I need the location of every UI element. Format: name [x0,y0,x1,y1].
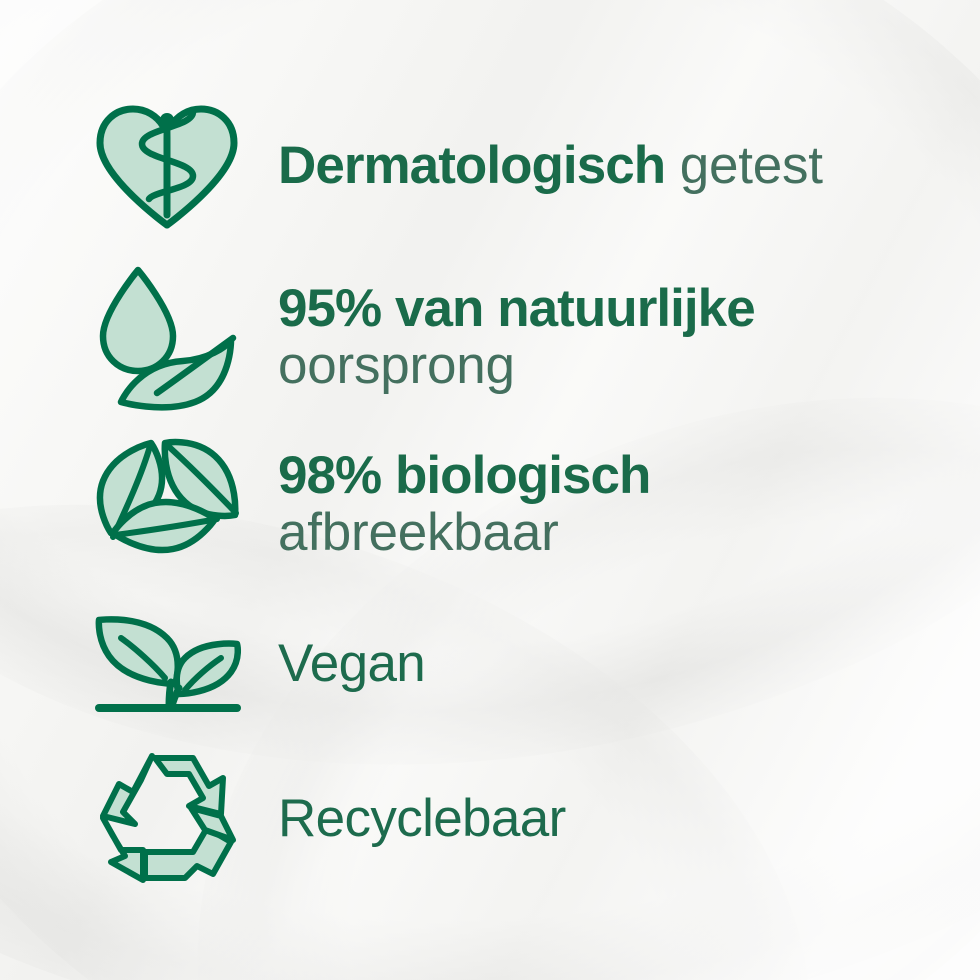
claim-text: Recyclebaar [278,790,566,847]
claim-second-line-text: oorsprong [278,336,515,395]
claim-row: 98% biologisch afbreekbaar [78,424,650,584]
claim-strong-text: 98% biologisch [278,446,650,505]
sprout-icon [78,612,256,716]
claim-row: Recyclebaar [78,744,566,894]
claim-row: Dermatologisch getest [78,102,823,230]
claim-row: 95% van natuurlijke oorsprong [78,258,755,416]
claims-list: Dermatologisch getest 95% van natuurlijk… [0,0,980,980]
claim-second-line-text: afbreekbaar [278,503,559,562]
claim-strong-text: 95% van natuurlijke [278,279,755,338]
claim-text: Vegan [278,635,425,692]
claims-infographic: Dermatologisch getest 95% van natuurlijk… [0,0,980,980]
recycle-icon [78,752,256,886]
claim-text: 98% biologisch afbreekbaar [278,447,650,561]
claim-strong-text: Dermatologisch [278,136,665,195]
claim-row: Vegan [78,600,425,728]
claim-text: Dermatologisch getest [278,137,823,194]
claim-label: Vegan [278,634,425,693]
three-leaves-circle-icon [78,429,256,579]
claim-label: Recyclebaar [278,789,566,848]
claim-regular-text: getest [665,136,823,195]
claim-text: 95% van natuurlijke oorsprong [278,280,755,394]
heart-caduceus-icon [78,103,256,229]
droplet-leaf-icon [78,262,256,412]
